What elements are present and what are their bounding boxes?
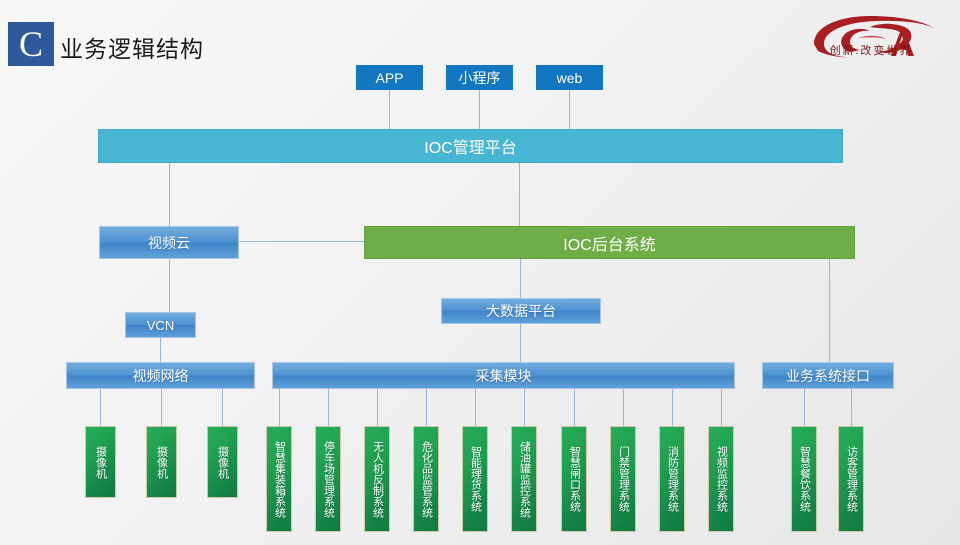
- leaf-smart-container[interactable]: 智慧集装箱系统: [266, 426, 292, 532]
- node-label: 视频云: [148, 233, 190, 253]
- leaf-fire-mgmt[interactable]: 消防管理系统: [659, 426, 685, 532]
- slide-canvas: C 业务逻辑结构 创新.改变世界 APP 小: [0, 0, 960, 545]
- leaf-smart-catering[interactable]: 智慧餐饮系统: [791, 426, 817, 532]
- connector-collect-sys-2: [328, 389, 329, 426]
- leaf-label: 消防管理系统: [666, 446, 679, 512]
- connector-cloud-backend: [239, 241, 365, 242]
- leaf-access-control[interactable]: 门禁管理系统: [610, 426, 636, 532]
- connector-collect-sys-10: [721, 389, 722, 426]
- leaf-label: 访客管理系统: [845, 446, 858, 512]
- connector-mini-platform: [479, 90, 480, 129]
- leaf-label: 储油罐监控系统: [518, 441, 531, 518]
- node-label: IOC后台系统: [563, 231, 655, 255]
- connector-bigdata-collect: [520, 324, 521, 362]
- connector-collect-sys-5: [475, 389, 476, 426]
- connector-collect-sys-7: [574, 389, 575, 426]
- node-ioc-backend[interactable]: IOC后台系统: [364, 226, 855, 259]
- connector-business-sys-1: [804, 389, 805, 426]
- page-title: 业务逻辑结构: [60, 30, 204, 64]
- node-label: 业务系统接口: [786, 366, 870, 386]
- leaf-label: 摄像机: [94, 446, 108, 479]
- connector-platform-cloud: [169, 163, 170, 226]
- section-badge: C: [8, 22, 54, 66]
- leaf-camera-3[interactable]: 摄像机: [207, 426, 238, 498]
- leaf-hazmat-supervise[interactable]: 危化品监管系统: [413, 426, 439, 532]
- connector-videonet-cam-3: [222, 389, 223, 426]
- connector-collect-sys-8: [623, 389, 624, 426]
- leaf-label: 智慧闸口系统: [568, 446, 581, 512]
- leaf-camera-1[interactable]: 摄像机: [85, 426, 116, 498]
- leaf-smart-tally[interactable]: 智能理货系统: [462, 426, 488, 532]
- leaf-label: 停车场管理系统: [322, 441, 335, 518]
- connector-collect-sys-4: [426, 389, 427, 426]
- node-vcn[interactable]: VCN: [125, 312, 196, 338]
- leaf-oil-tank-monitor[interactable]: 储油罐监控系统: [511, 426, 537, 532]
- connector-collect-sys-6: [524, 389, 525, 426]
- leaf-camera-2[interactable]: 摄像机: [146, 426, 177, 498]
- node-label: APP: [375, 70, 403, 86]
- leaf-label: 危化品监管系统: [420, 441, 433, 518]
- node-web[interactable]: web: [536, 65, 603, 90]
- node-label: 采集模块: [476, 366, 532, 386]
- node-miniprogram[interactable]: 小程序: [446, 65, 513, 90]
- node-label: 大数据平台: [486, 301, 556, 321]
- connector-cloud-vcn: [169, 259, 170, 312]
- connector-videonet-cam-2: [161, 389, 162, 426]
- leaf-label: 摄像机: [155, 446, 169, 479]
- connector-backend-business: [829, 259, 830, 362]
- connector-backend-bigdata: [520, 259, 521, 298]
- connector-videonet-cam-1: [100, 389, 101, 426]
- node-label: VCN: [147, 318, 174, 333]
- leaf-uav-counter[interactable]: 无人机反制系统: [364, 426, 390, 532]
- leaf-parking-mgmt[interactable]: 停车场管理系统: [315, 426, 341, 532]
- node-label: IOC管理平台: [424, 134, 516, 158]
- node-video-cloud[interactable]: 视频云: [99, 226, 239, 259]
- node-label: 视频网络: [133, 366, 189, 386]
- leaf-label: 智慧集装箱系统: [273, 441, 286, 518]
- node-bigdata-platform[interactable]: 大数据平台: [441, 298, 601, 324]
- leaf-label: 智能理货系统: [469, 446, 482, 512]
- connector-collect-sys-1: [279, 389, 280, 426]
- node-business-interface[interactable]: 业务系统接口: [762, 362, 894, 389]
- leaf-label: 智慧餐饮系统: [798, 446, 811, 512]
- leaf-visitor-mgmt[interactable]: 访客管理系统: [838, 426, 864, 532]
- logo-slogan: 创新.改变世界: [798, 42, 944, 58]
- connector-collect-sys-3: [377, 389, 378, 426]
- leaf-smart-gate[interactable]: 智慧闸口系统: [561, 426, 587, 532]
- connector-collect-sys-9: [672, 389, 673, 426]
- node-collect-module[interactable]: 采集模块: [272, 362, 735, 389]
- leaf-label: 摄像机: [216, 446, 230, 479]
- connector-platform-backend: [519, 163, 520, 226]
- node-label: 小程序: [459, 68, 501, 88]
- leaf-label: 无人机反制系统: [371, 441, 384, 518]
- connector-business-sys-2: [851, 389, 852, 426]
- connector-web-platform: [569, 90, 570, 129]
- node-label: web: [557, 70, 583, 86]
- connector-vcn-videonet: [160, 338, 161, 362]
- leaf-video-surveillance[interactable]: 视频监控系统: [708, 426, 734, 532]
- node-video-network[interactable]: 视频网络: [66, 362, 255, 389]
- node-app[interactable]: APP: [356, 65, 423, 90]
- leaf-label: 视频监控系统: [715, 446, 728, 512]
- leaf-label: 门禁管理系统: [617, 446, 630, 512]
- node-ioc-platform[interactable]: IOC管理平台: [98, 129, 843, 163]
- connector-app-platform: [389, 90, 390, 129]
